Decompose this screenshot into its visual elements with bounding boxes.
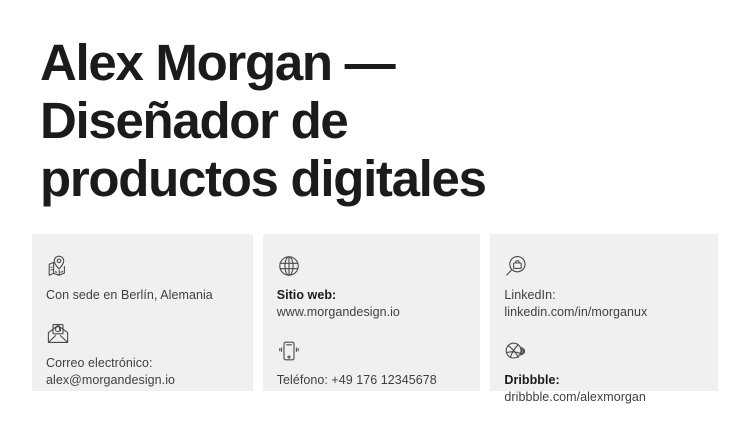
contact-line-value[interactable]: alex@morgandesign.io — [46, 372, 239, 389]
job-search-icon — [504, 254, 528, 278]
mobile-phone-icon — [277, 339, 301, 363]
contact-line-label: Dribbble: — [504, 372, 704, 389]
contact-line-label: LinkedIn: — [504, 287, 704, 304]
contact-card-social: LinkedIn: linkedin.com/in/morganux Dri — [490, 234, 718, 391]
contact-cards-row: Con sede en Berlín, Alemania Correo elec… — [32, 234, 718, 391]
map-pin-icon — [46, 254, 70, 278]
business-card-page: Alex Morgan — Diseñador de productos dig… — [0, 0, 750, 430]
contact-line-label: Sitio web: — [277, 287, 467, 304]
page-title: Alex Morgan — Diseñador de productos dig… — [40, 34, 640, 208]
contact-line-value[interactable]: dribbble.com/alexmorgan — [504, 389, 704, 406]
contact-entry-website: Sitio web: www.morgandesign.io — [277, 254, 467, 321]
contact-line-value[interactable]: linkedin.com/in/morganux — [504, 304, 704, 321]
dribbble-ball-icon — [504, 339, 528, 363]
contact-line: Con sede en Berlín, Alemania — [46, 287, 239, 304]
contact-entry-location: Con sede en Berlín, Alemania — [46, 254, 239, 304]
contact-entry-linkedin: LinkedIn: linkedin.com/in/morganux — [504, 254, 704, 321]
contact-line: Correo electrónico: — [46, 355, 239, 372]
contact-line: Teléfono: +49 176 12345678 — [277, 372, 467, 389]
contact-card-location-email: Con sede en Berlín, Alemania Correo elec… — [32, 234, 253, 391]
globe-icon — [277, 254, 301, 278]
contact-entry-phone: Teléfono: +49 176 12345678 — [277, 339, 467, 389]
email-envelope-icon — [46, 322, 70, 346]
contact-entry-dribbble: Dribbble: dribbble.com/alexmorgan — [504, 339, 704, 406]
contact-line-value[interactable]: www.morgandesign.io — [277, 304, 467, 321]
contact-entry-email: Correo electrónico: alex@morgandesign.io — [46, 322, 239, 389]
contact-card-website-phone: Sitio web: www.morgandesign.io Teléfon — [263, 234, 481, 391]
